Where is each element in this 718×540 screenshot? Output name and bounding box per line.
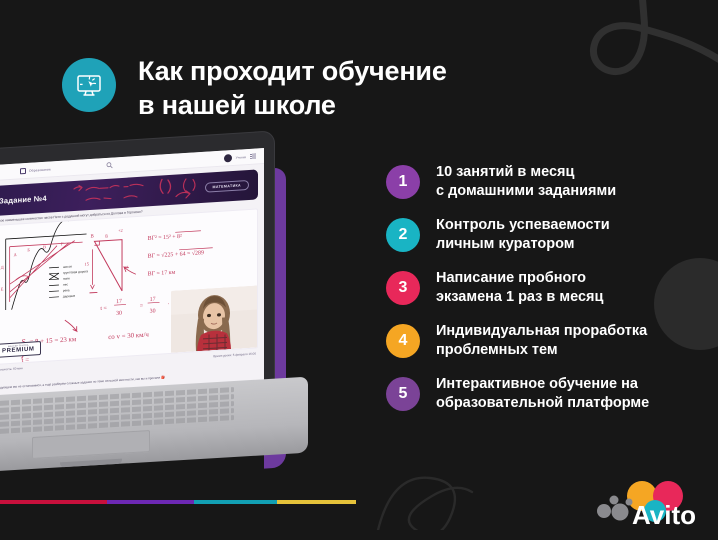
stripe-segment-4 bbox=[277, 500, 356, 504]
tutor-video-thumbnail[interactable] bbox=[171, 286, 257, 353]
list-item: 2 Контроль успеваемости личным куратором bbox=[386, 216, 686, 253]
list-item-label: 10 занятий в месяц с домашними заданиями bbox=[436, 163, 616, 200]
svg-text:+2: +2 bbox=[118, 228, 123, 233]
list-item: 4 Индивидуальная проработка проблемных т… bbox=[386, 322, 686, 359]
slide-root: Как проходит обучение в нашей школе Обра… bbox=[0, 0, 718, 540]
list-item-number: 5 bbox=[386, 377, 420, 411]
list-item-label: Интерактивное обучение на образовательно… bbox=[436, 375, 649, 412]
avito-wordmark: Avito bbox=[632, 500, 696, 528]
avito-logo: Avito bbox=[596, 478, 704, 528]
svg-text:Е: Е bbox=[1, 287, 4, 292]
stripe-segment-2 bbox=[107, 500, 194, 504]
svg-text:ВГ = 17 км: ВГ = 17 км bbox=[148, 270, 176, 278]
svg-text:17: 17 bbox=[150, 297, 156, 303]
hamburger-icon[interactable] bbox=[250, 154, 256, 159]
list-item-number: 1 bbox=[386, 165, 420, 199]
laptop-screen: Образование Ученик bbox=[0, 148, 264, 403]
lesson-duration: Длительность: 60 мин bbox=[0, 367, 23, 373]
svg-text:В: В bbox=[43, 245, 46, 250]
svg-text:Б: Б bbox=[27, 248, 30, 253]
search-icon[interactable] bbox=[106, 161, 113, 168]
logo-mark-icon bbox=[20, 167, 26, 173]
decorative-swirl-icon bbox=[566, 0, 718, 144]
slide-header: Как проходит обучение в нашей школе bbox=[62, 52, 447, 122]
lesson-panel: Задание №4 МАТЕМАТИКА За какое наименьше… bbox=[0, 164, 264, 392]
lesson-date: Время урока: 5 февраля 16:00 bbox=[213, 352, 256, 359]
svg-text:B: B bbox=[90, 235, 94, 240]
svg-text:8: 8 bbox=[105, 235, 108, 240]
site-name: Образование bbox=[29, 167, 51, 172]
color-stripe bbox=[0, 500, 356, 504]
benefits-list: 1 10 занятий в месяц с домашними задания… bbox=[386, 163, 686, 412]
list-item: 1 10 занятий в месяц с домашними задания… bbox=[386, 163, 686, 200]
svg-text:река: река bbox=[63, 289, 70, 293]
svg-text:Г: Г bbox=[61, 242, 64, 247]
laptop-base bbox=[0, 377, 308, 474]
list-item-label: Индивидуальная проработка проблемных тем bbox=[436, 322, 647, 359]
svg-text:грунтовая дорога: грунтовая дорога bbox=[63, 270, 88, 276]
list-item: 3 Написание пробного экзамена 1 раз в ме… bbox=[386, 269, 686, 306]
svg-text:шоссе: шоссе bbox=[63, 265, 72, 270]
svg-text:ВГ = √225 + 64 = √289: ВГ = √225 + 64 = √289 bbox=[148, 250, 204, 261]
page-title: Как проходит обучение в нашей школе bbox=[138, 52, 447, 122]
monitor-cursor-icon bbox=[62, 58, 116, 112]
svg-text:30: 30 bbox=[116, 311, 122, 317]
user-name: Ученик bbox=[236, 155, 246, 160]
site-logo[interactable]: Образование bbox=[20, 166, 51, 174]
svg-text:BГ² = 15² + 8²: BГ² = 15² + 8² bbox=[148, 234, 182, 242]
avatar[interactable] bbox=[224, 154, 232, 163]
laptop-keyboard bbox=[0, 386, 244, 438]
list-item: 5 Интерактивное обучение на образователь… bbox=[386, 375, 686, 412]
lesson-whiteboard: A Б В Г Д Е шоссе г bbox=[0, 209, 258, 366]
svg-text:деревня: деревня bbox=[63, 294, 75, 299]
laptop-trackpad bbox=[32, 430, 150, 459]
stripe-segment-3 bbox=[194, 500, 277, 504]
list-item-number: 2 bbox=[386, 218, 420, 252]
premium-label: PREMIUM bbox=[2, 347, 35, 355]
list-item-number: 4 bbox=[386, 324, 420, 358]
decorative-curve-icon bbox=[370, 468, 520, 530]
list-item-label: Контроль успеваемости личным куратором bbox=[436, 216, 610, 253]
svg-text:=: = bbox=[140, 304, 144, 310]
svg-text:A: A bbox=[14, 252, 18, 257]
laptop-mockup: Образование Ученик bbox=[0, 150, 308, 480]
laptop-lid: Образование Ученик bbox=[0, 131, 274, 412]
svg-text:лес: лес bbox=[63, 283, 69, 287]
browser-user-area[interactable]: Ученик bbox=[224, 152, 256, 162]
svg-text:30: 30 bbox=[150, 309, 156, 315]
svg-text:со v = 30 км/ч: со v = 30 км/ч bbox=[108, 332, 149, 342]
list-item-label: Написание пробного экзамена 1 раз в меся… bbox=[436, 269, 603, 306]
list-item-number: 3 bbox=[386, 271, 420, 305]
svg-text:15: 15 bbox=[85, 262, 89, 267]
svg-text:t =: t = bbox=[21, 357, 29, 364]
svg-text:17: 17 bbox=[116, 299, 122, 305]
svg-text:t =: t = bbox=[100, 306, 107, 312]
stripe-segment-1 bbox=[0, 500, 107, 504]
laptop-notch bbox=[60, 459, 122, 468]
svg-text:поле: поле bbox=[63, 277, 70, 281]
svg-text:Д: Д bbox=[1, 265, 4, 270]
